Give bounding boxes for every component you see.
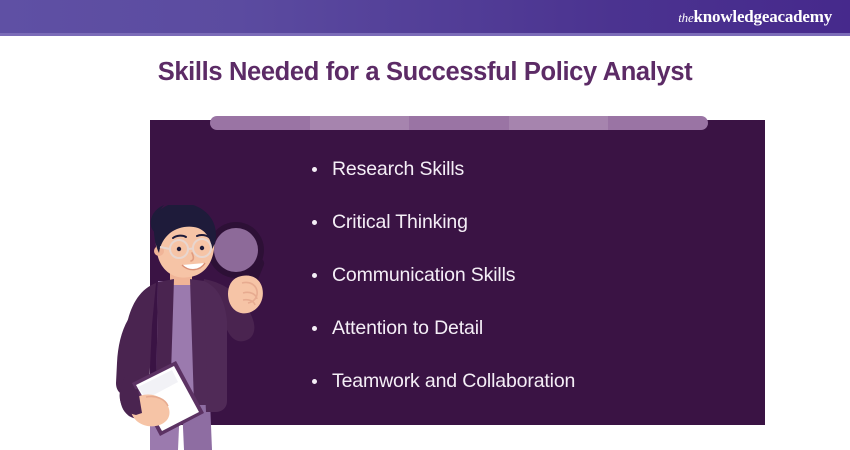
accent-bar-segment-2 (310, 116, 410, 130)
header-underline-divider (0, 33, 850, 36)
list-item: Critical Thinking (310, 213, 750, 233)
skill-label: Teamwork and Collaboration (332, 370, 575, 392)
skills-list: Research Skills Critical Thinking Commun… (310, 160, 750, 425)
accent-bar-segment-3 (409, 116, 509, 130)
logo-knowledge-text: knowledge (694, 7, 770, 26)
skill-label: Communication Skills (332, 264, 515, 286)
skill-label: Critical Thinking (332, 211, 468, 233)
accent-bar-segment-1 (210, 116, 310, 130)
person-head (151, 205, 216, 278)
logo-the-text: the (678, 10, 693, 25)
bullet-dot-icon (312, 326, 317, 331)
analyst-illustration (86, 205, 301, 450)
bullet-dot-icon (312, 379, 317, 384)
accent-bar-segment-5 (608, 116, 708, 130)
list-item: Research Skills (310, 160, 750, 180)
bullet-dot-icon (312, 220, 317, 225)
page-title: Skills Needed for a Successful Policy An… (0, 58, 850, 87)
skill-label: Attention to Detail (332, 317, 483, 339)
list-item: Attention to Detail (310, 319, 750, 339)
accent-bar-segment-4 (509, 116, 609, 130)
list-item: Communication Skills (310, 266, 750, 286)
board-top-accent-bar (210, 116, 708, 130)
logo-academy-text: academy (769, 7, 832, 26)
list-item: Teamwork and Collaboration (310, 372, 750, 392)
header-brand-bar: theknowledgeacademy (0, 0, 850, 33)
skill-label: Research Skills (332, 158, 464, 180)
bullet-dot-icon (312, 273, 317, 278)
slide-canvas: theknowledgeacademy Skills Needed for a … (0, 0, 850, 450)
the-knowledge-academy-logo[interactable]: theknowledgeacademy (678, 7, 832, 27)
bullet-dot-icon (312, 167, 317, 172)
hand-holding-magnifier (228, 275, 263, 313)
